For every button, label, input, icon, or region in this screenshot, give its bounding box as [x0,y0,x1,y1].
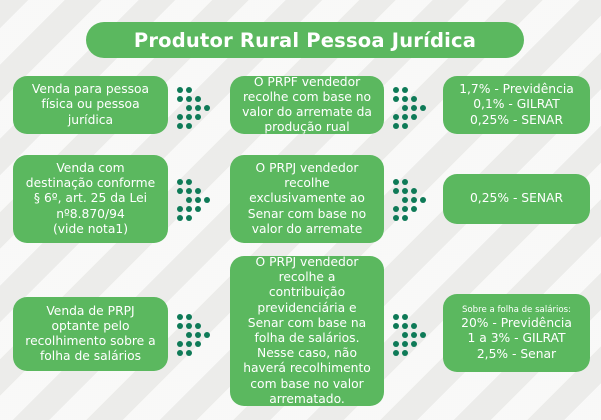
row-3-result-lead: Sobre a folha de salários: [462,304,571,316]
row-1-source-box: Venda para pessoa física ou pessoa juríd… [13,76,168,134]
row-2-source-line-2: destinação conforme [26,176,155,191]
row-1-result-line-3: 0,25% - SENAR [470,113,563,128]
row-1-result-line-1: 1,7% - Previdência [459,82,574,97]
row-1-middle-line-3: valor do arremate da [242,105,372,120]
row-1-result-line-2: 0,1% - GILRAT [473,97,560,112]
page-title: Produtor Rural Pessoa Jurídica [134,29,476,52]
row-3-middle-line-10: arrematado. [269,392,345,407]
row-2-source-line-4: nº8.870/94 [56,207,125,222]
chevron-right-dots-icon [177,177,215,221]
page-title-banner: Produtor Rural Pessoa Jurídica [86,22,524,58]
row-1-middle-box: O PRPF vendedor recolhe com base no valo… [230,76,384,134]
row-3-source-line-2: optante pelo [51,319,129,334]
row-1-middle-line-4: produção rual [264,120,349,135]
row-3-result-line-1: 20% - Previdência [461,316,572,331]
row-3-middle-line-3: contribuição [269,285,345,300]
row-3-source-line-3: recolhimento sobre a [25,334,155,349]
row-3-result-line-3: 2,5% - Senar [477,347,556,362]
row-2-middle-line-3: exclusivamente ao [249,191,365,206]
row-3-middle-line-6: folha de salários. [255,331,360,346]
chevron-right-dots-icon [393,177,431,221]
row-2-source-box: Venda com destinação conforme § 6º, art.… [13,155,168,243]
row-3-source-box: Venda de PRPJ optante pelo recolhimento … [13,297,168,371]
chevron-right-dots-icon [393,312,431,356]
row-2-middle-line-4: Senar com base no [248,207,366,222]
chevron-right-dots-icon [177,85,215,129]
row-1-middle-line-2: recolhe com base no [243,90,371,105]
row-3-middle-line-1: O PRPJ vendedor [256,255,359,270]
row-3-source-line-4: folha de salários [40,349,141,364]
row-1-source-line-1: Venda para pessoa [32,82,149,97]
row-1-result-box: 1,7% - Previdência 0,1% - GILRAT 0,25% -… [443,76,590,134]
chevron-right-dots-icon [177,312,215,356]
row-2-result-line-1: 0,25% - SENAR [470,191,563,206]
row-3-middle-line-9: com base no valor [250,377,363,392]
row-2-middle-box: O PRPJ vendedor recolhe exclusivamente a… [230,155,384,243]
infographic-canvas: Produtor Rural Pessoa Jurídica Venda par… [0,0,601,420]
row-2-middle-line-5: valor do arremate [252,222,363,237]
row-3-result-box: Sobre a folha de salários: 20% - Previdê… [443,294,590,372]
row-1-source-line-2: física ou pessoa [41,97,139,112]
row-1-source-line-3: jurídica [68,113,113,128]
row-2-middle-line-1: O PRPJ vendedor [256,161,359,176]
row-3-middle-box: O PRPJ vendedor recolhe a contribuição p… [230,256,384,406]
row-3-middle-line-5: Senar com base na [248,316,366,331]
row-3-source-line-1: Venda de PRPJ [46,304,134,319]
row-3-middle-line-4: previdenciária e [257,301,356,316]
row-1-middle-line-1: O PRPF vendedor [254,75,360,90]
row-2-result-box: 0,25% - SENAR [443,174,590,224]
row-2-source-line-5: (vide nota1) [53,222,128,237]
chevron-right-dots-icon [393,85,431,129]
row-3-middle-line-7: Nesse caso, não [257,346,357,361]
row-2-source-line-3: § 6º, art. 25 da Lei [34,191,147,206]
row-3-result-line-2: 1 a 3% - GILRAT [468,331,566,346]
row-3-middle-line-2: recolhe a [279,270,336,285]
row-2-middle-line-2: recolhe [284,176,329,191]
row-3-middle-line-8: haverá recolhimento [243,361,371,376]
row-2-source-line-1: Venda com [56,161,124,176]
